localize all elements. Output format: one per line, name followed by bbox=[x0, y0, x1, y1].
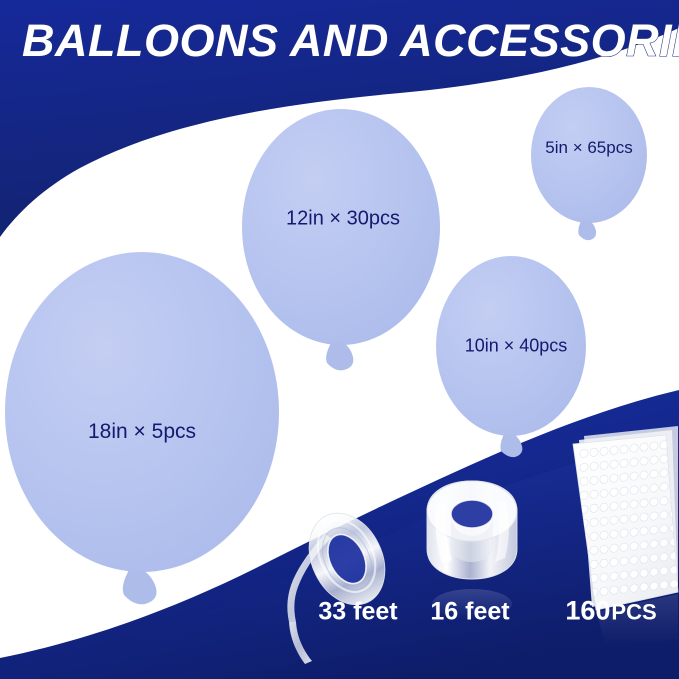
tape-roll-label: 16 feet bbox=[430, 598, 509, 627]
page-title: BALLOONS AND ACCESSORIES bbox=[22, 18, 679, 63]
ribbon-roll-label: 33 feet bbox=[318, 598, 397, 627]
ribbon-tail-lower bbox=[289, 622, 312, 664]
glue-dots-label: 160 PCS bbox=[565, 596, 656, 627]
product-infographic: BALLOONS AND ACCESSORIES 18in × 5pcs 12i… bbox=[0, 0, 679, 679]
accessories-layer bbox=[0, 0, 679, 679]
glue-dots-unit: PCS bbox=[611, 600, 656, 626]
ribbon-roll bbox=[287, 501, 399, 664]
glue-dots-count: 160 bbox=[565, 596, 610, 627]
